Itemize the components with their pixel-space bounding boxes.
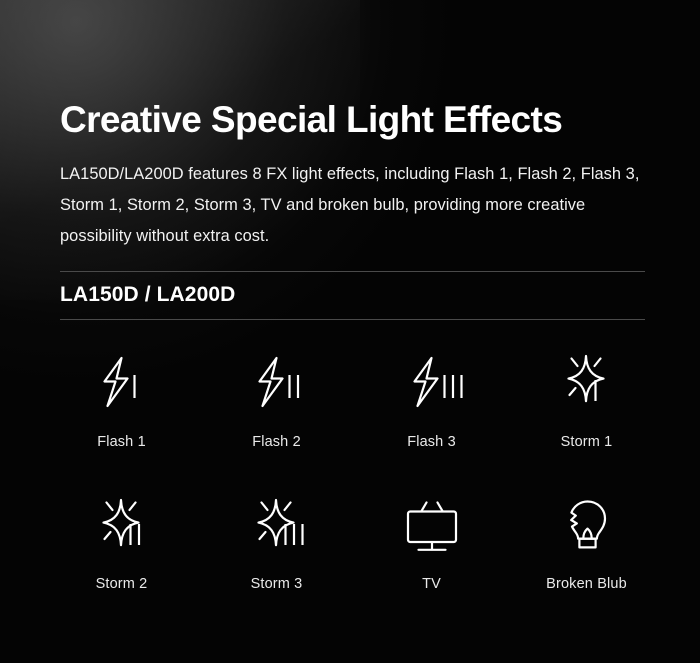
storm-2-icon — [91, 496, 153, 558]
tv-icon — [401, 496, 463, 558]
light-effects-page: Creative Special Light Effects LA150D/LA… — [0, 0, 700, 663]
effect-item[interactable]: Flash 2 — [199, 352, 354, 454]
section-la150d-la200d: LA150D / LA200D — [60, 271, 645, 320]
storm-3-icon — [246, 496, 308, 558]
effect-label: Storm 1 — [561, 434, 613, 450]
effect-item[interactable]: Broken Blub — [509, 496, 664, 598]
flash-1-icon — [91, 352, 153, 414]
effect-label: Flash 3 — [407, 434, 456, 450]
effect-label: Storm 3 — [251, 576, 303, 592]
page-description: LA150D/LA200D features 8 FX light effect… — [60, 159, 660, 252]
effect-item[interactable]: Storm 3 — [199, 496, 354, 598]
effect-label: Broken Blub — [546, 576, 627, 592]
effects-grid: Flash 1Flash 2Flash 3Storm 1Storm 2Storm… — [44, 352, 664, 598]
effect-label: TV — [422, 576, 441, 592]
page-title: Creative Special Light Effects — [60, 99, 562, 141]
effect-item[interactable]: TV — [354, 496, 509, 598]
storm-1-icon — [556, 352, 618, 414]
flash-3-icon — [401, 352, 463, 414]
effect-item[interactable]: Flash 3 — [354, 352, 509, 454]
effect-label: Flash 1 — [97, 434, 146, 450]
divider-bottom — [60, 319, 645, 320]
broken-bulb-icon — [556, 496, 618, 558]
effect-item[interactable]: Flash 1 — [44, 352, 199, 454]
section-title: LA150D / LA200D — [60, 272, 645, 319]
effect-label: Storm 2 — [96, 576, 148, 592]
effect-item[interactable]: Storm 2 — [44, 496, 199, 598]
flash-2-icon — [246, 352, 308, 414]
effect-label: Flash 2 — [252, 434, 301, 450]
effect-item[interactable]: Storm 1 — [509, 352, 664, 454]
